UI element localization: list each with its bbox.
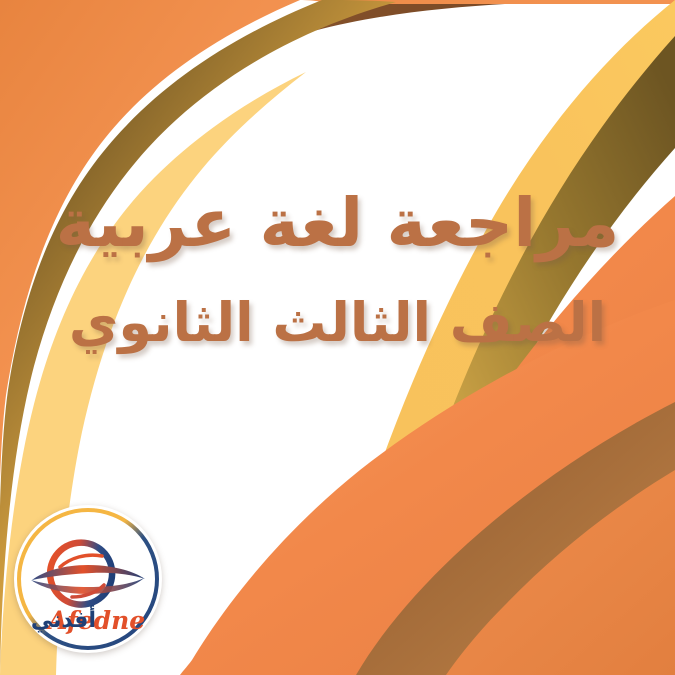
logo-graphic: Afedne أفدني [14, 505, 162, 653]
poster-canvas: مراجعة لغة عربية الصف الثالث الثانوي [0, 0, 675, 675]
logo-arabic-text: أفدني [31, 604, 96, 633]
brand-logo[interactable]: Afedne أفدني [14, 505, 162, 653]
